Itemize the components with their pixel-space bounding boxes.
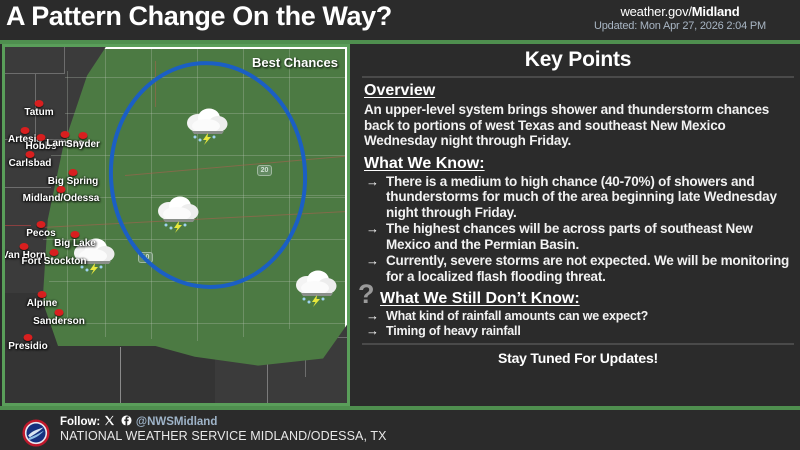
follow-label: Follow: [60, 416, 100, 428]
arrow-icon: → [366, 174, 379, 190]
header-bar: A Pattern Change On the Way? weather.gov… [0, 0, 800, 40]
what-we-dont-know-header-row: ? What We Still Don’t Know: [356, 286, 800, 309]
city-pin-icon [37, 134, 46, 141]
question-mark-icon: ? [358, 282, 375, 306]
list-item-text: There is a medium to high chance (40-70%… [386, 174, 777, 220]
city-pin-icon [38, 291, 47, 298]
best-chances-label: Best Chances [249, 55, 341, 70]
page-title: A Pattern Change On the Way? [6, 1, 392, 32]
follow-line: Follow: @NWSMidland [60, 415, 217, 428]
content-stage: 20 10 Best Chances [0, 44, 800, 406]
site-prefix: weather.gov/ [620, 4, 691, 19]
arrow-icon: → [366, 253, 379, 269]
arrow-icon: → [366, 324, 379, 338]
city-label: Big Lake [54, 238, 96, 249]
city-pin-icon [21, 127, 30, 134]
city-pin-icon [71, 231, 80, 238]
thunderstorm-icon [155, 195, 201, 233]
overview-heading: Overview [364, 82, 435, 100]
arrow-icon: → [366, 309, 379, 323]
nws-logo-icon [21, 419, 51, 447]
panel-footer-divider [362, 343, 794, 345]
brand-block: weather.gov/Midland Updated: Mon Apr 27,… [560, 4, 800, 32]
city-label: Sanderson [33, 316, 85, 327]
list-item: →Currently, severe storms are not expect… [364, 253, 792, 284]
list-item: →What kind of rainfall amounts can we ex… [364, 309, 792, 323]
city-pin-icon [35, 100, 44, 107]
city-pin-icon [61, 131, 70, 138]
key-points-panel: Key Points Overview An upper-level syste… [356, 44, 800, 406]
x-twitter-icon[interactable] [104, 415, 115, 426]
map-border-line [64, 47, 65, 74]
thunderstorm-icon [293, 269, 339, 307]
what-we-know-heading: What We Know: [364, 155, 485, 173]
city-label: Pecos [26, 228, 55, 239]
city-label: Big Spring [48, 176, 99, 187]
city-pin-icon [55, 309, 64, 316]
site-office: Midland [692, 4, 740, 19]
city-pin-icon [37, 221, 46, 228]
city-pin-icon [26, 151, 35, 158]
what-we-dont-know-heading: What We Still Don’t Know: [380, 290, 580, 308]
list-item: →Timing of heavy rainfall [364, 324, 792, 338]
list-item: →There is a medium to high chance (40-70… [364, 174, 792, 221]
city-pin-icon [69, 169, 78, 176]
city-pin-icon [57, 186, 66, 193]
office-name: NATIONAL WEATHER SERVICE MIDLAND/ODESSA,… [60, 429, 387, 443]
list-item-text: Timing of heavy rainfall [386, 324, 521, 338]
weather-gov-url: weather.gov/Midland [560, 4, 800, 19]
stay-tuned-text: Stay Tuned For Updates! [356, 350, 800, 366]
city-label: Midland/Odessa [23, 193, 100, 204]
list-item-text: The highest chances will be across parts… [386, 221, 753, 252]
list-item-text: What kind of rainfall amounts can we exp… [386, 309, 648, 323]
what-we-know-list: →There is a medium to high chance (40-70… [364, 174, 792, 285]
map-border-line [120, 347, 121, 403]
list-item-text: Currently, severe storms are not expecte… [386, 253, 789, 284]
thunderstorm-icon [184, 107, 230, 145]
social-handle[interactable]: @NWSMidland [136, 416, 217, 428]
city-pin-icon [20, 243, 29, 250]
city-label: Tatum [24, 107, 53, 118]
what-we-dont-know-list: →What kind of rainfall amounts can we ex… [364, 309, 792, 338]
weather-graphic: A Pattern Change On the Way? weather.gov… [0, 0, 800, 450]
key-points-title: Key Points [356, 44, 800, 72]
border-river [5, 225, 31, 226]
city-label: Snyder [66, 139, 100, 150]
list-item: →The highest chances will be across part… [364, 221, 792, 252]
city-label: Alpine [27, 298, 58, 309]
city-label: Fort Stockton [22, 256, 87, 267]
city-pin-icon [24, 334, 33, 341]
forecast-map[interactable]: 20 10 Best Chances [5, 47, 347, 403]
map-border-line [5, 187, 51, 188]
updated-timestamp: Updated: Mon Apr 27, 2026 2:04 PM [560, 20, 800, 32]
overview-text: An upper-level system brings shower and … [364, 102, 792, 149]
arrow-icon: → [366, 221, 379, 237]
map-frame: 20 10 Best Chances [2, 44, 350, 406]
city-label: Carlsbad [9, 158, 52, 169]
city-label: Presidio [8, 341, 47, 352]
city-pin-icon [50, 249, 59, 256]
city-pin-icon [79, 132, 88, 139]
facebook-icon[interactable] [121, 415, 132, 426]
